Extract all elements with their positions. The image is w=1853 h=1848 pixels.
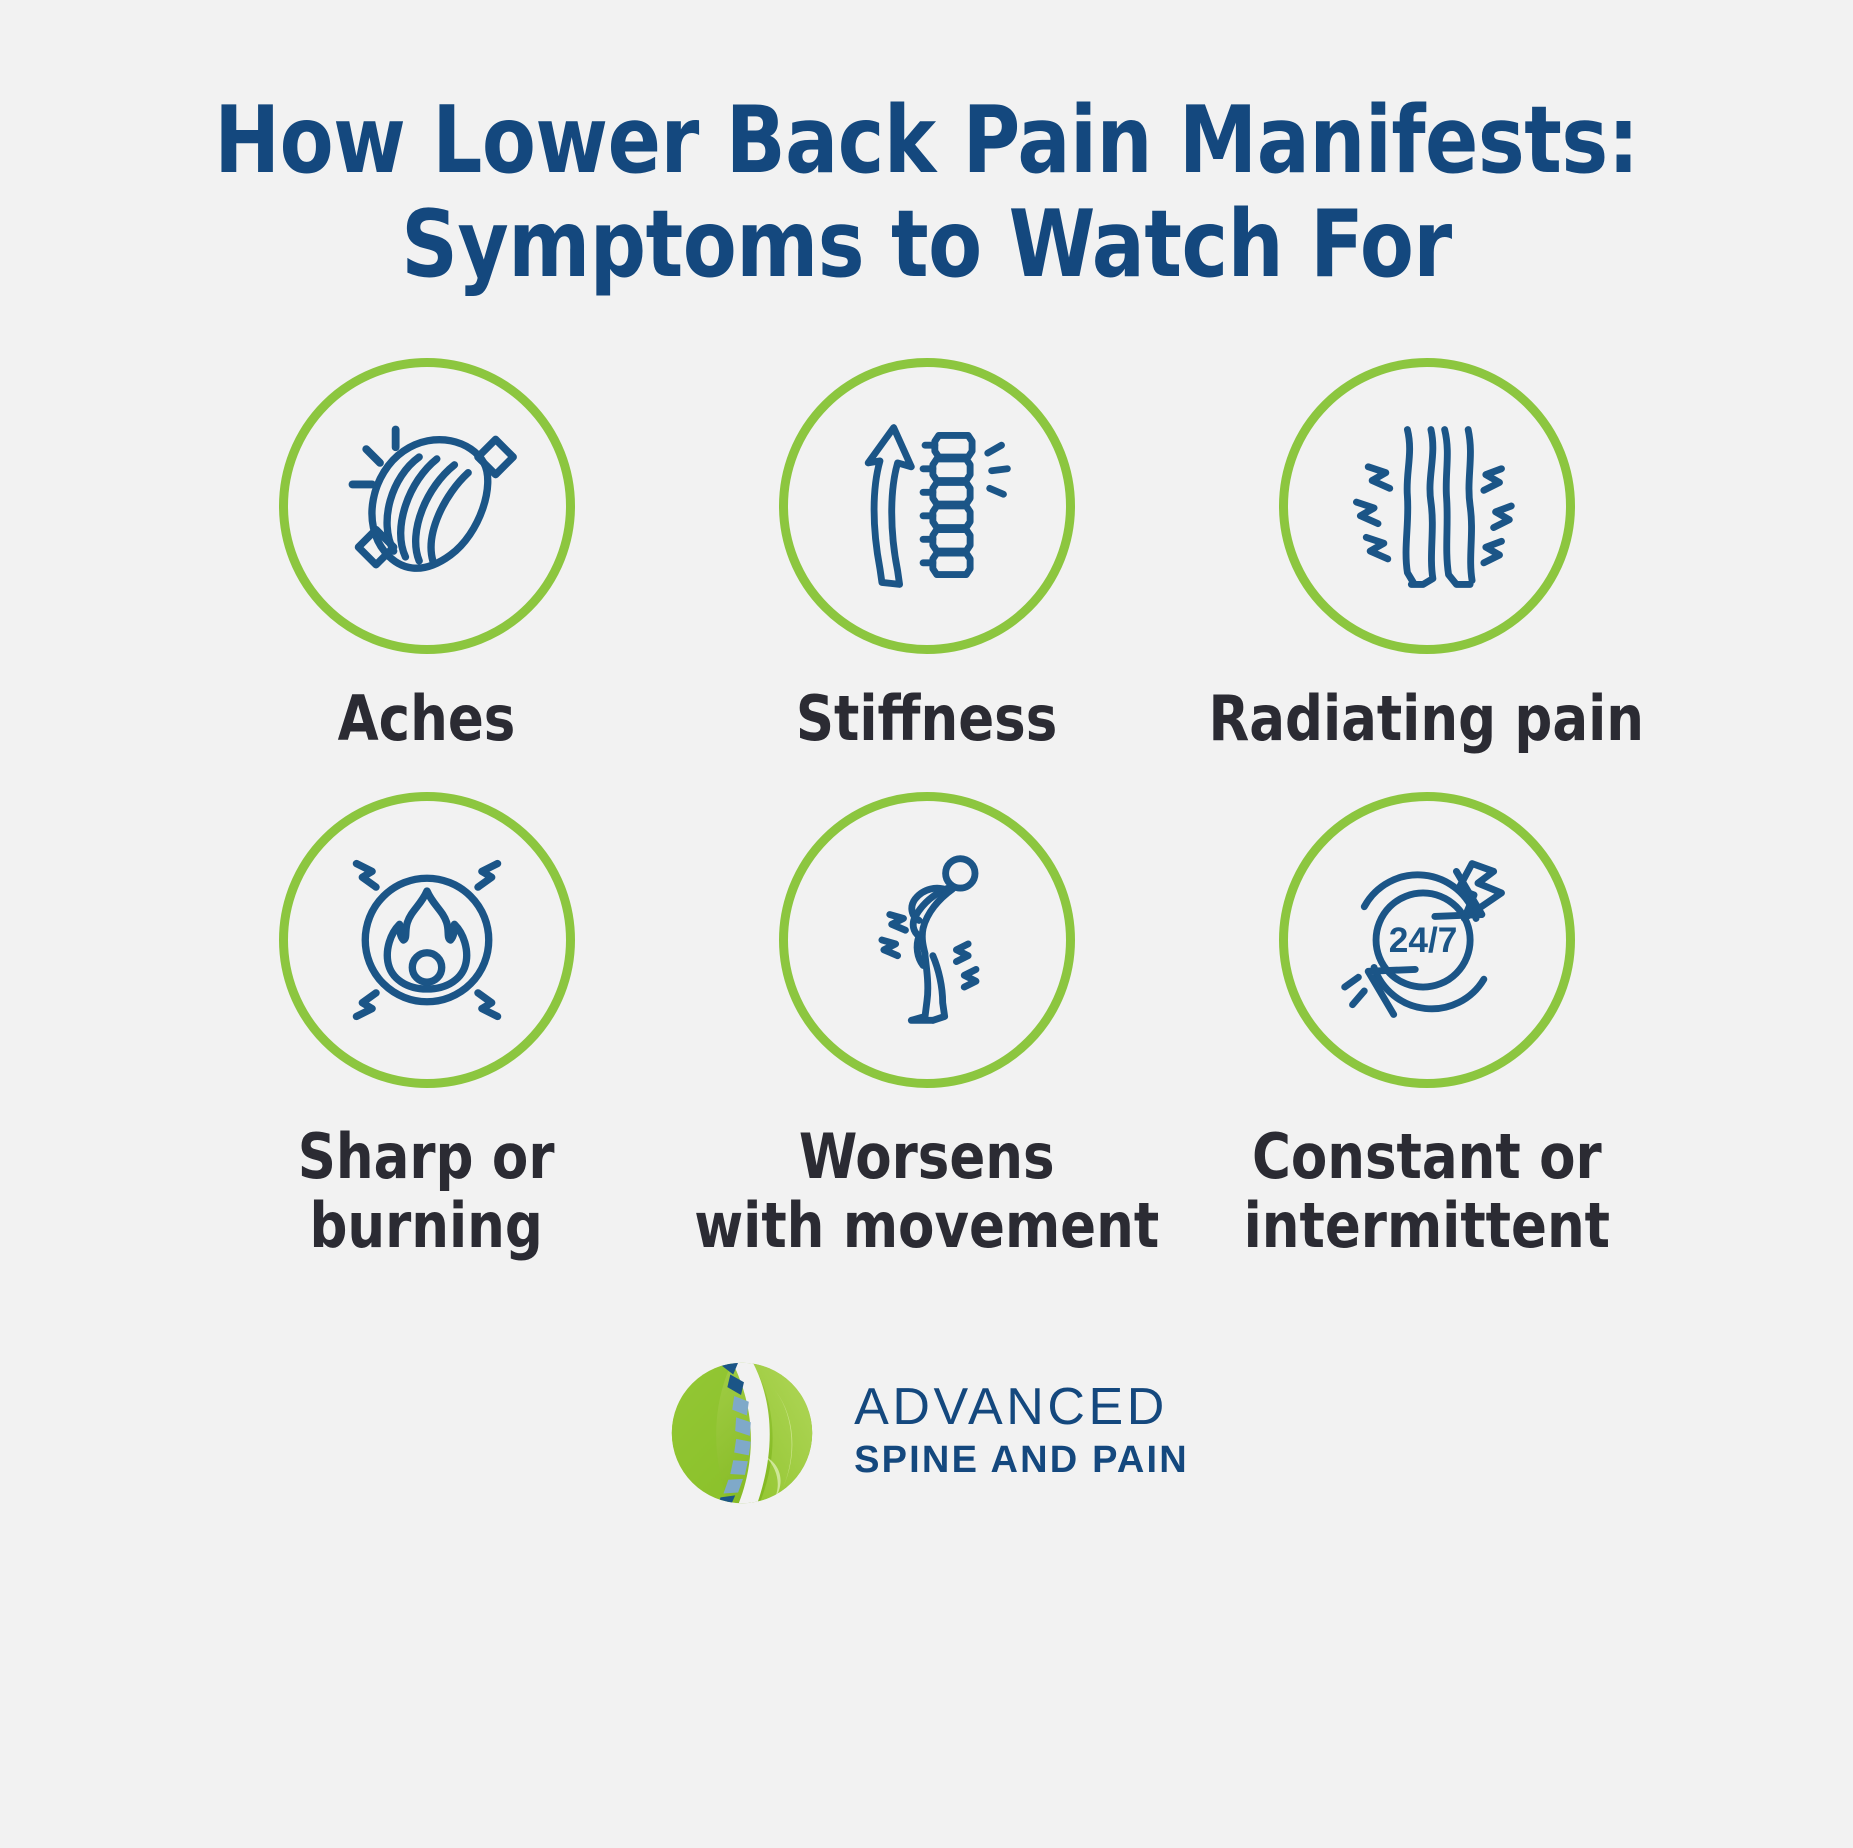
cycle-247-label: 24/7 — [1388, 921, 1457, 960]
icon-ring-worsens-with-movement — [779, 792, 1075, 1088]
icon-ring-radiating-pain — [1279, 358, 1575, 654]
flame-burst-icon — [329, 842, 525, 1038]
icon-ring-aches — [279, 358, 575, 654]
logo-primary-text: ADVANCED — [854, 1381, 1189, 1433]
logo-wordmark: ADVANCED SPINE AND PAIN — [854, 1381, 1189, 1484]
symptom-card-aches: Aches — [177, 358, 677, 753]
legs-radiating-icon — [1329, 408, 1525, 604]
logo-secondary-text: SPINE AND PAIN — [854, 1438, 1189, 1484]
symptom-card-constant-or-intermittent: 24/7 Constant or intermittent — [1177, 792, 1677, 1261]
icon-ring-sharp-or-burning — [279, 792, 575, 1088]
symptom-label: Constant or intermittent — [1243, 1122, 1609, 1261]
symptom-label: Radiating pain — [1209, 684, 1645, 753]
bending-person-icon — [829, 842, 1025, 1038]
brand-logo[interactable]: ADVANCED SPINE AND PAIN — [664, 1355, 1189, 1511]
symptom-grid: Aches — [177, 358, 1677, 1260]
title-line-1: How Lower Back Pain Manifests: — [56, 88, 1798, 192]
symptom-label: Stiffness — [796, 684, 1057, 753]
spine-arrow-icon — [829, 408, 1025, 604]
symptom-card-sharp-or-burning: Sharp or burning — [177, 792, 677, 1261]
symptom-card-radiating-pain: Radiating pain — [1177, 358, 1677, 753]
muscle-icon — [329, 408, 525, 604]
symptom-card-stiffness: Stiffness — [677, 358, 1177, 753]
symptom-label: Worsens with movement — [694, 1122, 1159, 1261]
icon-ring-constant-or-intermittent: 24/7 — [1279, 792, 1575, 1088]
title-line-2: Symptoms to Watch For — [56, 192, 1798, 296]
icon-ring-stiffness — [779, 358, 1075, 654]
symptom-label: Sharp or burning — [298, 1122, 555, 1261]
cycle-247-icon: 24/7 — [1329, 842, 1525, 1038]
page-title: How Lower Back Pain Manifests: Symptoms … — [0, 0, 1853, 296]
symptom-card-worsens-with-movement: Worsens with movement — [677, 792, 1177, 1261]
infographic-canvas: How Lower Back Pain Manifests: Symptoms … — [0, 0, 1853, 1848]
symptom-label: Aches — [338, 684, 516, 753]
spine-sphere-logo-icon — [664, 1355, 820, 1511]
